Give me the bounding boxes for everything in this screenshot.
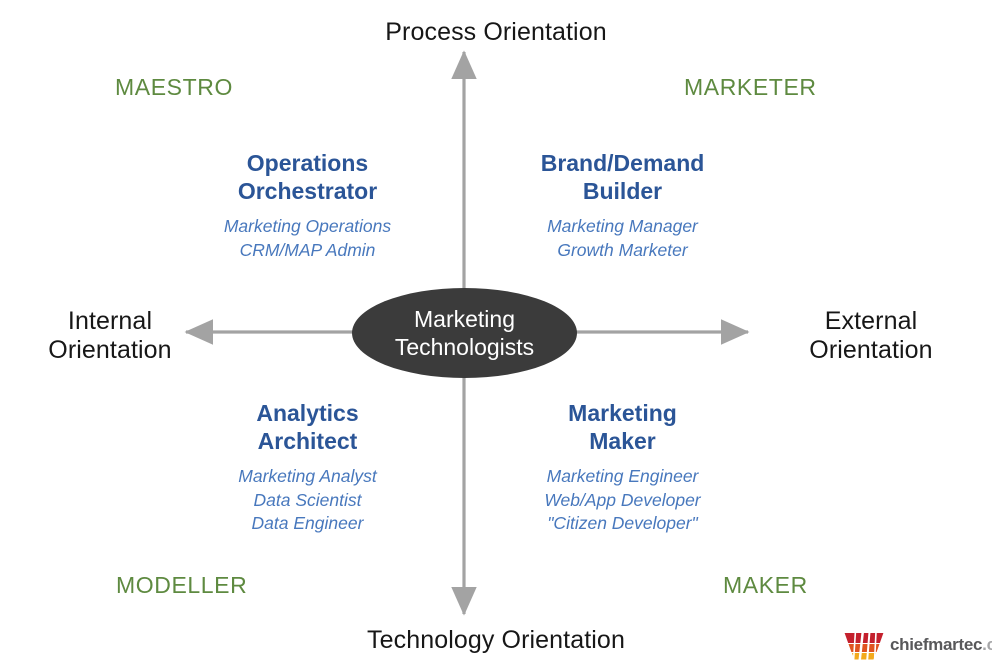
axis-label-top: Process Orientation bbox=[0, 18, 992, 47]
center-ellipse-label: Marketing Technologists bbox=[395, 305, 534, 361]
quadrant-roles: Marketing Manager Growth Marketer bbox=[490, 215, 755, 262]
quadrant-title: Operations Orchestrator bbox=[175, 150, 440, 205]
logo-wordmark-name: chiefmartec bbox=[890, 635, 982, 654]
quadrant-roles: Marketing Operations CRM/MAP Admin bbox=[175, 215, 440, 262]
logo-wordmark: chiefmartec.com bbox=[890, 635, 992, 655]
axis-label-right: External Orientation bbox=[760, 307, 982, 365]
quadrant-bottom-right: Marketing Maker Marketing Engineer Web/A… bbox=[490, 400, 755, 536]
corner-label-modeller: MODELLER bbox=[116, 572, 247, 599]
quadrant-top-right: Brand/Demand Builder Marketing Manager G… bbox=[490, 150, 755, 262]
diagram-canvas: Process Orientation Technology Orientati… bbox=[0, 0, 992, 670]
quadrant-roles: Marketing Analyst Data Scientist Data En… bbox=[175, 465, 440, 536]
quadrant-title: Brand/Demand Builder bbox=[490, 150, 755, 205]
quadrant-title: Marketing Maker bbox=[490, 400, 755, 455]
quadrant-top-left: Operations Orchestrator Marketing Operat… bbox=[175, 150, 440, 262]
center-ellipse: Marketing Technologists bbox=[352, 288, 577, 378]
corner-label-maestro: MAESTRO bbox=[115, 74, 233, 101]
quadrant-bottom-left: Analytics Architect Marketing Analyst Da… bbox=[175, 400, 440, 536]
funnel-icon bbox=[843, 630, 885, 660]
axis-label-left: Internal Orientation bbox=[10, 307, 210, 365]
corner-label-maker: MAKER bbox=[723, 572, 808, 599]
logo-wordmark-tld: .com bbox=[982, 635, 992, 654]
quadrant-title: Analytics Architect bbox=[175, 400, 440, 455]
corner-label-marketer: MARKETER bbox=[684, 74, 817, 101]
quadrant-roles: Marketing Engineer Web/App Developer "Ci… bbox=[490, 465, 755, 536]
chiefmartec-logo: chiefmartec.com bbox=[843, 626, 988, 664]
